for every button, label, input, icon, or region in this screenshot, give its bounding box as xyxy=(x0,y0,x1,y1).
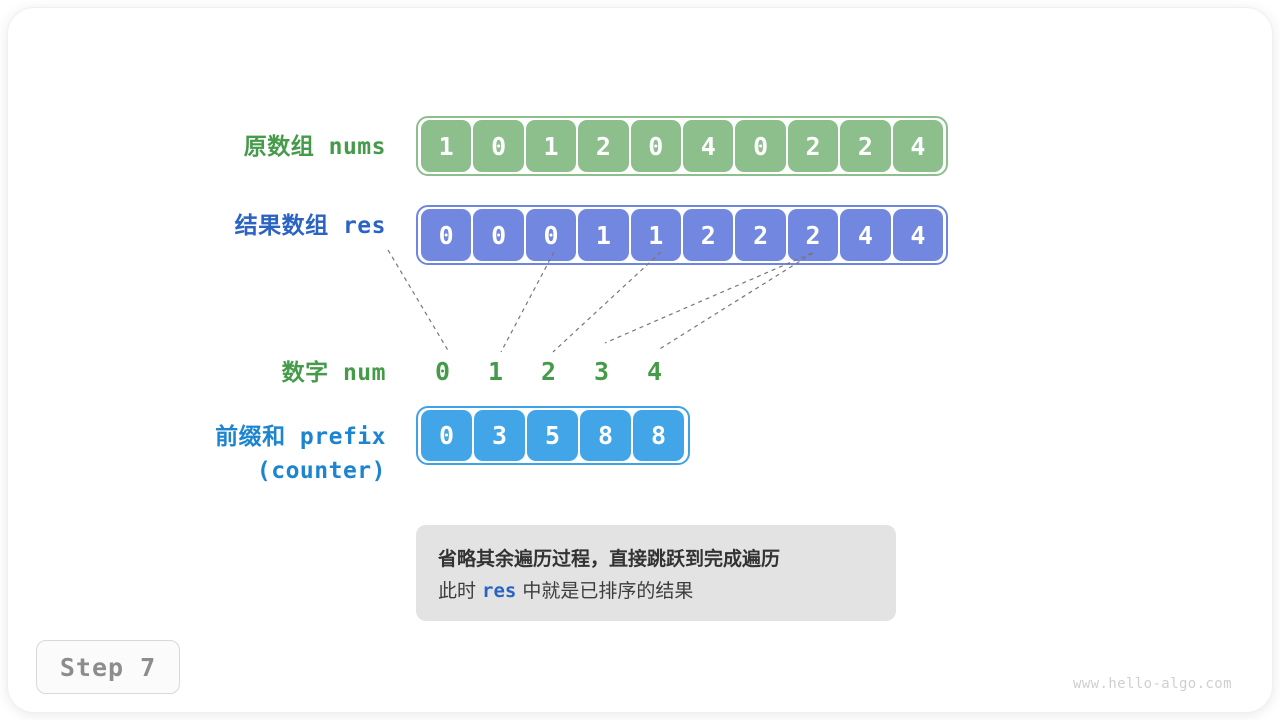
num-tick-2: 2 xyxy=(522,357,575,386)
res-cell-6: 2 xyxy=(735,209,785,261)
prefix-row-label-line2: (counter) xyxy=(140,454,386,488)
prefix-row-label-line1: 前缀和 prefix xyxy=(140,420,386,454)
res-cell-8: 4 xyxy=(840,209,890,261)
nums-array: 1012040224 xyxy=(416,116,948,176)
res-cell-0: 0 xyxy=(421,209,471,261)
note-line-2-after: 中就是已排序的结果 xyxy=(516,580,693,602)
res-row-label: 结果数组 res xyxy=(140,209,386,243)
res-cell-4: 1 xyxy=(631,209,681,261)
note-line-1: 省略其余遍历过程，直接跳跃到完成遍历 xyxy=(438,543,874,575)
watermark: www.hello-algo.com xyxy=(1073,676,1232,692)
nums-cell-1: 0 xyxy=(473,120,523,172)
res-array: 0001122244 xyxy=(416,205,948,265)
nums-cell-9: 4 xyxy=(893,120,943,172)
diagram-canvas: 原数组 nums 1012040224 结果数组 res 0001122244 … xyxy=(0,0,1280,720)
prefix-cell-4: 8 xyxy=(633,410,684,461)
prefix-cell-0: 0 xyxy=(421,410,472,461)
nums-row-label: 原数组 nums xyxy=(140,130,386,164)
nums-cell-4: 0 xyxy=(631,120,681,172)
note-box: 省略其余遍历过程，直接跳跃到完成遍历 此时 res 中就是已排序的结果 xyxy=(416,525,896,621)
nums-cell-0: 1 xyxy=(421,120,471,172)
nums-cell-2: 1 xyxy=(526,120,576,172)
num-values-row: 01234 xyxy=(416,356,696,386)
res-cell-1: 0 xyxy=(473,209,523,261)
prefix-array: 03588 xyxy=(416,406,690,465)
note-line-2-code: res xyxy=(482,580,516,602)
nums-cell-6: 0 xyxy=(735,120,785,172)
res-cell-7: 2 xyxy=(788,209,838,261)
prefix-cell-1: 3 xyxy=(474,410,525,461)
step-badge: Step 7 xyxy=(36,640,180,694)
num-tick-1: 1 xyxy=(469,357,522,386)
num-tick-3: 3 xyxy=(575,357,628,386)
nums-cell-5: 4 xyxy=(683,120,733,172)
prefix-cell-2: 5 xyxy=(527,410,578,461)
num-tick-0: 0 xyxy=(416,357,469,386)
num-row-label: 数字 num xyxy=(140,356,386,390)
nums-cell-7: 2 xyxy=(788,120,838,172)
nums-cell-8: 2 xyxy=(840,120,890,172)
note-line-2-before: 此时 xyxy=(438,580,482,602)
nums-cell-3: 2 xyxy=(578,120,628,172)
res-cell-5: 2 xyxy=(683,209,733,261)
res-cell-3: 1 xyxy=(578,209,628,261)
num-tick-4: 4 xyxy=(628,357,681,386)
note-line-2: 此时 res 中就是已排序的结果 xyxy=(438,575,874,607)
prefix-cell-3: 8 xyxy=(580,410,631,461)
res-cell-2: 0 xyxy=(526,209,576,261)
res-cell-9: 4 xyxy=(893,209,943,261)
